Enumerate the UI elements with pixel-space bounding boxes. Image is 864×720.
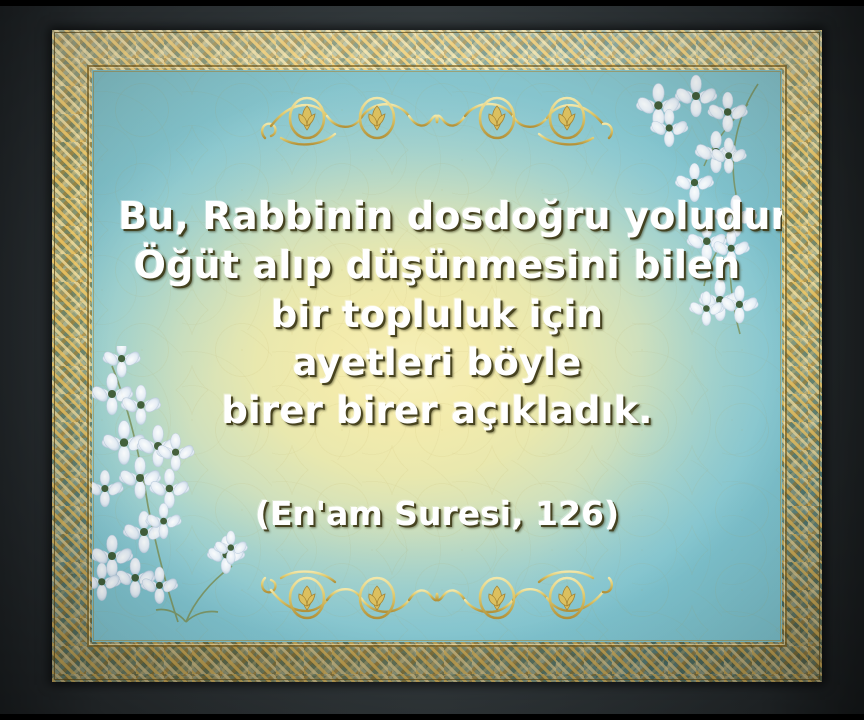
quote-text-block: Bu, Rabbinin dosdoğru yoludur. Öğüt alıp… [92,192,782,435]
ornamental-scroll-divider-bottom [257,562,617,634]
ornamental-scroll-divider-top [257,82,617,154]
quote-line-4: ayetleri böyle [118,339,756,387]
screen: Bu, Rabbinin dosdoğru yoludur. Öğüt alıp… [0,0,864,720]
quote-panel: Bu, Rabbinin dosdoğru yoludur. Öğüt alıp… [92,70,782,642]
quote-line-3: bir topluluk için [118,291,756,339]
quote-attribution: (En'am Suresi, 126) [92,494,782,533]
quote-line-2: Öğüt alıp düşünmesini bilen [118,241,756,290]
attribution-text: (En'am Suresi, 126) [255,494,619,533]
decorative-picture-frame: Bu, Rabbinin dosdoğru yoludur. Öğüt alıp… [52,30,822,682]
quote-line-1: Bu, Rabbinin dosdoğru yoludur. [118,192,756,241]
quote-line-5: birer birer açıkladık. [118,387,756,435]
